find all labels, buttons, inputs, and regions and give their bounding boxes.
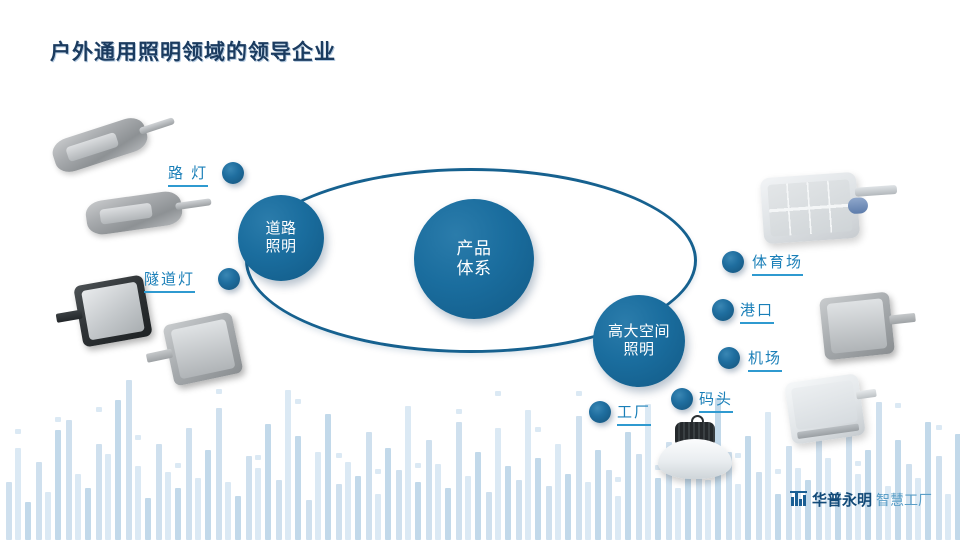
hub-road-line2: 照明 — [265, 238, 296, 256]
decorative-bar-tick — [255, 455, 261, 460]
decorative-bar-tick — [15, 429, 21, 434]
decorative-bar — [36, 462, 42, 540]
decorative-bar — [705, 480, 711, 540]
decorative-bar — [186, 428, 192, 540]
decorative-bar — [945, 494, 951, 540]
decorative-bar — [765, 412, 771, 540]
decorative-bar — [625, 432, 631, 540]
bullet-dot-street-lamp[interactable] — [222, 162, 244, 184]
decorative-bar — [55, 430, 61, 540]
decorative-bar — [415, 482, 421, 540]
decorative-bar — [135, 466, 141, 540]
decorative-bar — [315, 452, 321, 540]
label-wharf[interactable]: 码头 — [699, 388, 733, 413]
decorative-bar — [165, 472, 171, 540]
label-street-lamp[interactable]: 路 灯 — [168, 162, 208, 187]
decorative-bar — [745, 436, 751, 540]
airport-floodlight-image — [784, 373, 866, 445]
decorative-bar — [546, 486, 552, 540]
label-tunnel-lamp[interactable]: 隧道灯 — [144, 268, 195, 293]
page-title: 户外通用照明领域的领导企业 — [50, 36, 336, 66]
bullet-dot-port[interactable] — [712, 299, 734, 321]
decorative-bar — [486, 492, 492, 540]
hub-high-bay-lighting[interactable]: 高大空间 照明 — [593, 295, 685, 387]
logo-mark-icon — [790, 491, 808, 508]
decorative-bar — [345, 462, 351, 540]
hub-high-line1: 高大空间 — [608, 323, 670, 341]
decorative-bar — [45, 492, 51, 540]
decorative-bar — [246, 456, 252, 540]
decorative-bar — [105, 454, 111, 540]
hub-road-line1: 道路 — [265, 220, 296, 238]
label-airport[interactable]: 机场 — [748, 347, 782, 372]
decorative-bar — [375, 494, 381, 540]
decorative-bar — [456, 422, 462, 540]
decorative-bar — [475, 452, 481, 540]
slide-canvas: 户外通用照明领域的领导企业 道路 照明 产品 体系 — [0, 0, 960, 540]
label-factory[interactable]: 工厂 — [617, 401, 651, 426]
decorative-bar-tick — [615, 477, 621, 482]
logo-company-name: 华普永明 — [812, 489, 872, 510]
decorative-bar — [925, 422, 931, 540]
decorative-bar — [265, 424, 271, 540]
decorative-bar — [366, 432, 372, 540]
decorative-bar — [565, 474, 571, 540]
decorative-bar — [405, 406, 411, 540]
decorative-bar-tick — [495, 391, 501, 396]
decorative-bar — [25, 502, 31, 540]
decorative-bar — [615, 496, 621, 540]
decorative-bar-tick — [175, 463, 181, 468]
bullet-dot-airport[interactable] — [718, 347, 740, 369]
decorative-bar — [606, 470, 612, 540]
decorative-bar — [675, 488, 681, 540]
decorative-bar-tick — [936, 425, 942, 430]
decorative-bar-tick — [895, 403, 901, 408]
decorative-bar — [175, 488, 181, 540]
decorative-bar — [225, 482, 231, 540]
decorative-bar-tick — [855, 461, 861, 466]
decorative-bar-tick — [735, 453, 741, 458]
hub-center-line2: 体系 — [457, 259, 492, 279]
decorative-bar — [235, 496, 241, 540]
hub-product-system[interactable]: 产品 体系 — [414, 199, 534, 319]
street-lamp-image-2 — [84, 189, 184, 236]
tunnel-light-image-1 — [73, 274, 153, 347]
hub-road-lighting[interactable]: 道路 照明 — [238, 195, 324, 281]
decorative-bar — [85, 488, 91, 540]
decorative-bar — [325, 414, 331, 540]
decorative-bar — [385, 448, 391, 540]
decorative-bar-tick — [336, 453, 342, 458]
decorative-bar — [655, 478, 661, 540]
bullet-dot-stadium[interactable] — [722, 251, 744, 273]
decorative-bar — [516, 480, 522, 540]
decorative-bar — [216, 408, 222, 540]
decorative-bar — [535, 458, 541, 540]
decorative-bar — [505, 466, 511, 540]
decorative-bar — [775, 494, 781, 540]
decorative-bar — [96, 444, 102, 540]
decorative-bar — [816, 430, 822, 540]
decorative-bar — [306, 500, 312, 540]
decorative-bar-tick — [375, 469, 381, 474]
decorative-bar — [465, 476, 471, 540]
decorative-bar — [336, 484, 342, 540]
decorative-bar-tick — [135, 435, 141, 440]
decorative-bar-tick — [96, 407, 102, 412]
decorative-bar — [555, 444, 561, 540]
decorative-bar-tick — [456, 409, 462, 414]
decorative-bar — [276, 480, 282, 540]
label-stadium[interactable]: 体育场 — [752, 251, 803, 276]
company-logo: 华普永明 智慧工厂 — [790, 489, 932, 510]
label-port[interactable]: 港口 — [740, 299, 774, 324]
decorative-bar — [576, 416, 582, 540]
decorative-bar — [355, 476, 361, 540]
bullet-dot-factory[interactable] — [589, 401, 611, 423]
decorative-bar — [195, 478, 201, 540]
decorative-bar — [255, 468, 261, 540]
bullet-dot-tunnel-lamp[interactable] — [218, 268, 240, 290]
decorative-bar — [595, 450, 601, 540]
decorative-bar — [525, 410, 531, 540]
hub-high-line2: 照明 — [608, 341, 670, 359]
decorative-bar — [585, 482, 591, 540]
logo-tagline: 智慧工厂 — [876, 490, 932, 510]
bullet-dot-wharf[interactable] — [671, 388, 693, 410]
decorative-bar — [66, 420, 72, 540]
decorative-bar-tick — [535, 427, 541, 432]
decorative-bar — [126, 380, 132, 540]
decorative-bar — [735, 484, 741, 540]
decorative-bar — [435, 464, 441, 540]
decorative-bar — [756, 472, 762, 540]
decorative-bar-tick — [775, 469, 781, 474]
port-floodlight-image — [819, 292, 895, 361]
decorative-bar — [115, 400, 121, 540]
decorative-bar — [156, 444, 162, 540]
street-lamp-image-1 — [49, 114, 151, 176]
decorative-bar — [876, 402, 882, 540]
decorative-bar-tick — [576, 391, 582, 396]
decorative-bar-tick — [216, 389, 222, 394]
decorative-bar — [426, 440, 432, 540]
decorative-bar — [15, 448, 21, 540]
decorative-bar — [6, 482, 12, 540]
decorative-bar-tick — [55, 417, 61, 422]
decorative-bar — [295, 436, 301, 540]
decorative-bar-tick — [415, 463, 421, 468]
decorative-bar — [285, 390, 291, 540]
decorative-bar-tick — [295, 399, 301, 404]
decorative-bar — [445, 488, 451, 540]
decorative-bar — [396, 470, 402, 540]
hub-center-line1: 产品 — [457, 239, 492, 259]
decorative-bar — [495, 428, 501, 540]
decorative-bar — [145, 498, 151, 540]
decorative-bar — [955, 434, 960, 540]
decorative-bar — [636, 454, 642, 540]
high-bay-ufo-light-image — [658, 422, 732, 480]
stadium-floodlight-image — [760, 172, 860, 245]
decorative-bar — [936, 456, 942, 540]
decorative-bar — [205, 450, 211, 540]
decorative-bar — [75, 474, 81, 540]
